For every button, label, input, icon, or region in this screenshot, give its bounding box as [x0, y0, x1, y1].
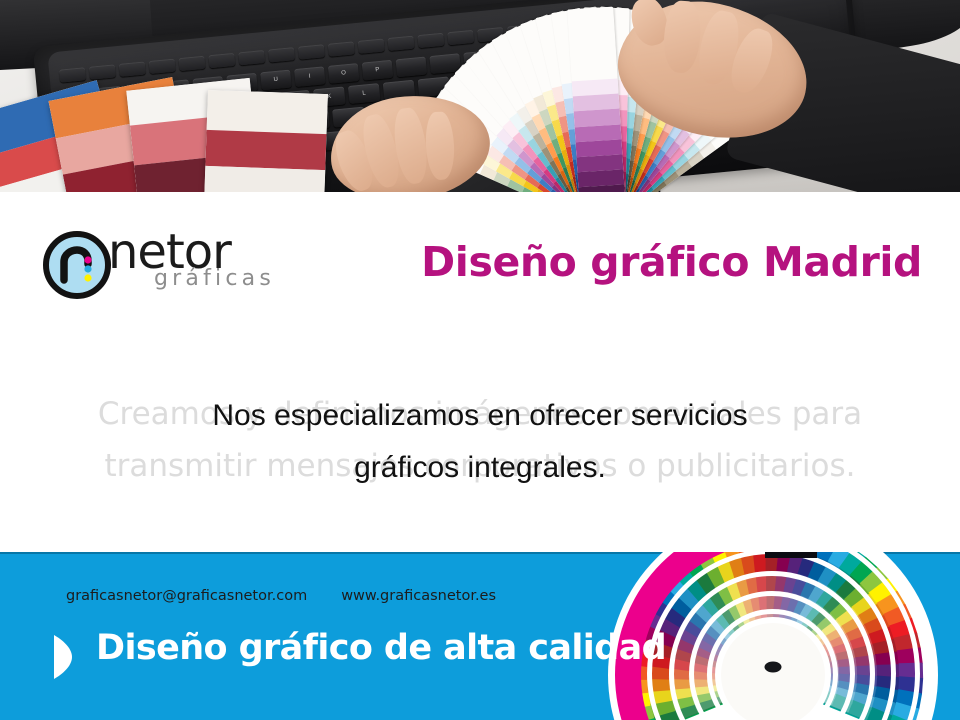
- fan-hub: [721, 623, 825, 720]
- hero-photo: QWERTYUIOPASDFGHJKLZXCVBNM: [0, 0, 960, 192]
- black-swatch-tab: [765, 552, 817, 558]
- page-title: Diseño gráfico Madrid: [0, 238, 922, 286]
- foreground-paragraph: Nos especializamos en ofrecer servicios …: [0, 390, 960, 494]
- website-url[interactable]: www.graficasnetor.es: [341, 588, 496, 604]
- slide-canvas: QWERTYUIOPASDFGHJKLZXCVBNM: [0, 0, 960, 720]
- fan-pivot-dot: [765, 661, 782, 672]
- contact-line: graficasnetor@graficasnetor.comwww.grafi…: [66, 588, 496, 604]
- footer-headline: Diseño gráfico de alta calidad: [96, 628, 666, 668]
- body-text-block: Creamos y definimos imágenes comerciales…: [0, 388, 960, 508]
- play-arrow-icon: [50, 634, 76, 680]
- swatch-card: [204, 90, 328, 192]
- email-address[interactable]: graficasnetor@graficasnetor.com: [66, 588, 307, 604]
